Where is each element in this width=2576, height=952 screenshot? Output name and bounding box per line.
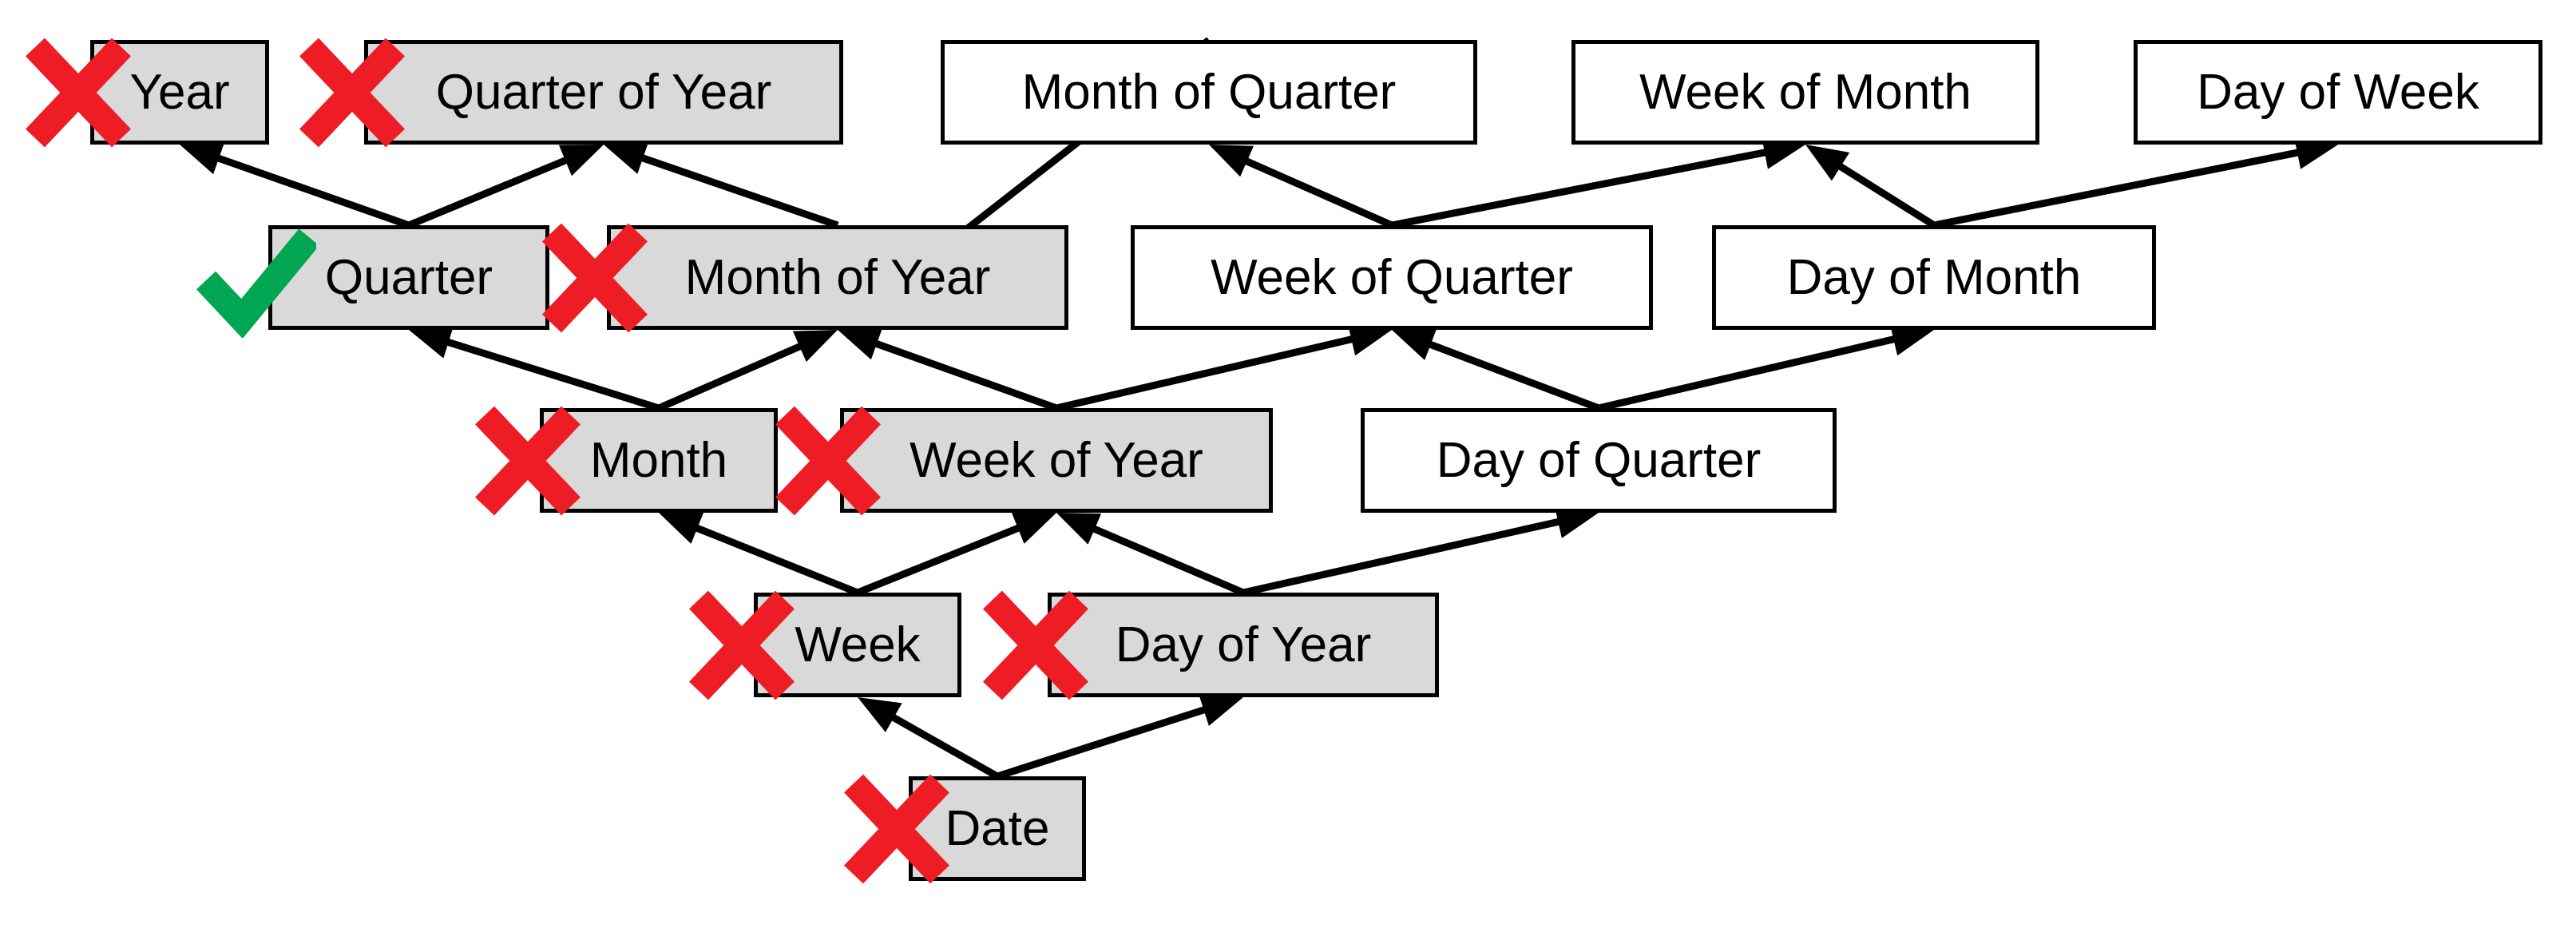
edge-week-of-year-to-week-of-quarter (1056, 323, 1392, 408)
node-date[interactable]: Date (909, 776, 1086, 881)
node-label: Day of Year (1116, 621, 1372, 670)
edge-week-to-week-of-year (858, 513, 1056, 593)
edge-date-to-week (858, 697, 997, 776)
node-month-of-quarter[interactable]: Month of Quarter (941, 40, 1477, 145)
edge-week-to-month (659, 513, 858, 593)
node-quarter-of-year[interactable]: Quarter of Year (364, 40, 843, 145)
edge-day-of-quarter-to-day-of-month (1599, 323, 1934, 408)
edge-week-of-quarter-to-month-of-quarter (1209, 145, 1392, 225)
edge-week-of-quarter-to-week-of-month (1392, 136, 1805, 225)
edge-day-of-quarter-to-week-of-quarter (1392, 329, 1599, 408)
node-day-of-year[interactable]: Day of Year (1048, 593, 1439, 697)
node-quarter[interactable]: Quarter (268, 225, 549, 330)
edge-month-to-quarter (409, 326, 659, 408)
edge-day-of-year-to-day-of-quarter (1243, 506, 1599, 593)
edge-month-of-year-to-quarter-of-year (604, 142, 838, 225)
node-day-of-quarter[interactable]: Day of Quarter (1361, 408, 1837, 513)
node-label: Week of Quarter (1211, 253, 1573, 303)
node-label: Day of Month (1787, 253, 2082, 303)
node-day-of-week[interactable]: Day of Week (2134, 40, 2542, 145)
node-day-of-month[interactable]: Day of Month (1712, 225, 2156, 330)
node-label: Month (590, 436, 727, 486)
edge-date-to-day-of-year (997, 694, 1243, 776)
edge-day-of-month-to-week-of-month (1805, 145, 1934, 225)
node-week-of-year[interactable]: Week of Year (840, 408, 1273, 513)
node-label: Quarter (325, 253, 493, 303)
edge-quarter-to-year (180, 142, 409, 225)
node-label: Week of Month (1639, 68, 1972, 117)
edge-week-of-year-to-month-of-year (838, 328, 1056, 408)
edge-day-of-month-to-day-of-week (1934, 137, 2338, 225)
node-label: Month of Year (685, 253, 991, 303)
node-week[interactable]: Week (754, 593, 961, 697)
node-label: Year (129, 68, 229, 117)
node-month-of-year[interactable]: Month of Year (607, 225, 1068, 330)
node-month[interactable]: Month (540, 408, 778, 513)
node-week-of-quarter[interactable]: Week of Quarter (1131, 225, 1653, 330)
edge-day-of-year-to-week-of-year (1056, 513, 1243, 593)
node-label: Week (795, 621, 920, 670)
node-label: Month of Quarter (1022, 68, 1397, 117)
node-label: Day of Quarter (1437, 436, 1762, 486)
node-label: Date (945, 804, 1050, 854)
edge-quarter-to-quarter-of-year (409, 145, 604, 225)
node-week-of-month[interactable]: Week of Month (1571, 40, 2039, 145)
node-label: Day of Week (2197, 68, 2479, 117)
node-year[interactable]: Year (90, 40, 269, 145)
diagram-canvas: YearQuarter of YearMonth of QuarterWeek … (0, 0, 2576, 952)
node-label: Quarter of Year (436, 68, 772, 117)
edge-month-to-month-of-year (659, 330, 838, 408)
node-label: Week of Year (910, 436, 1203, 486)
